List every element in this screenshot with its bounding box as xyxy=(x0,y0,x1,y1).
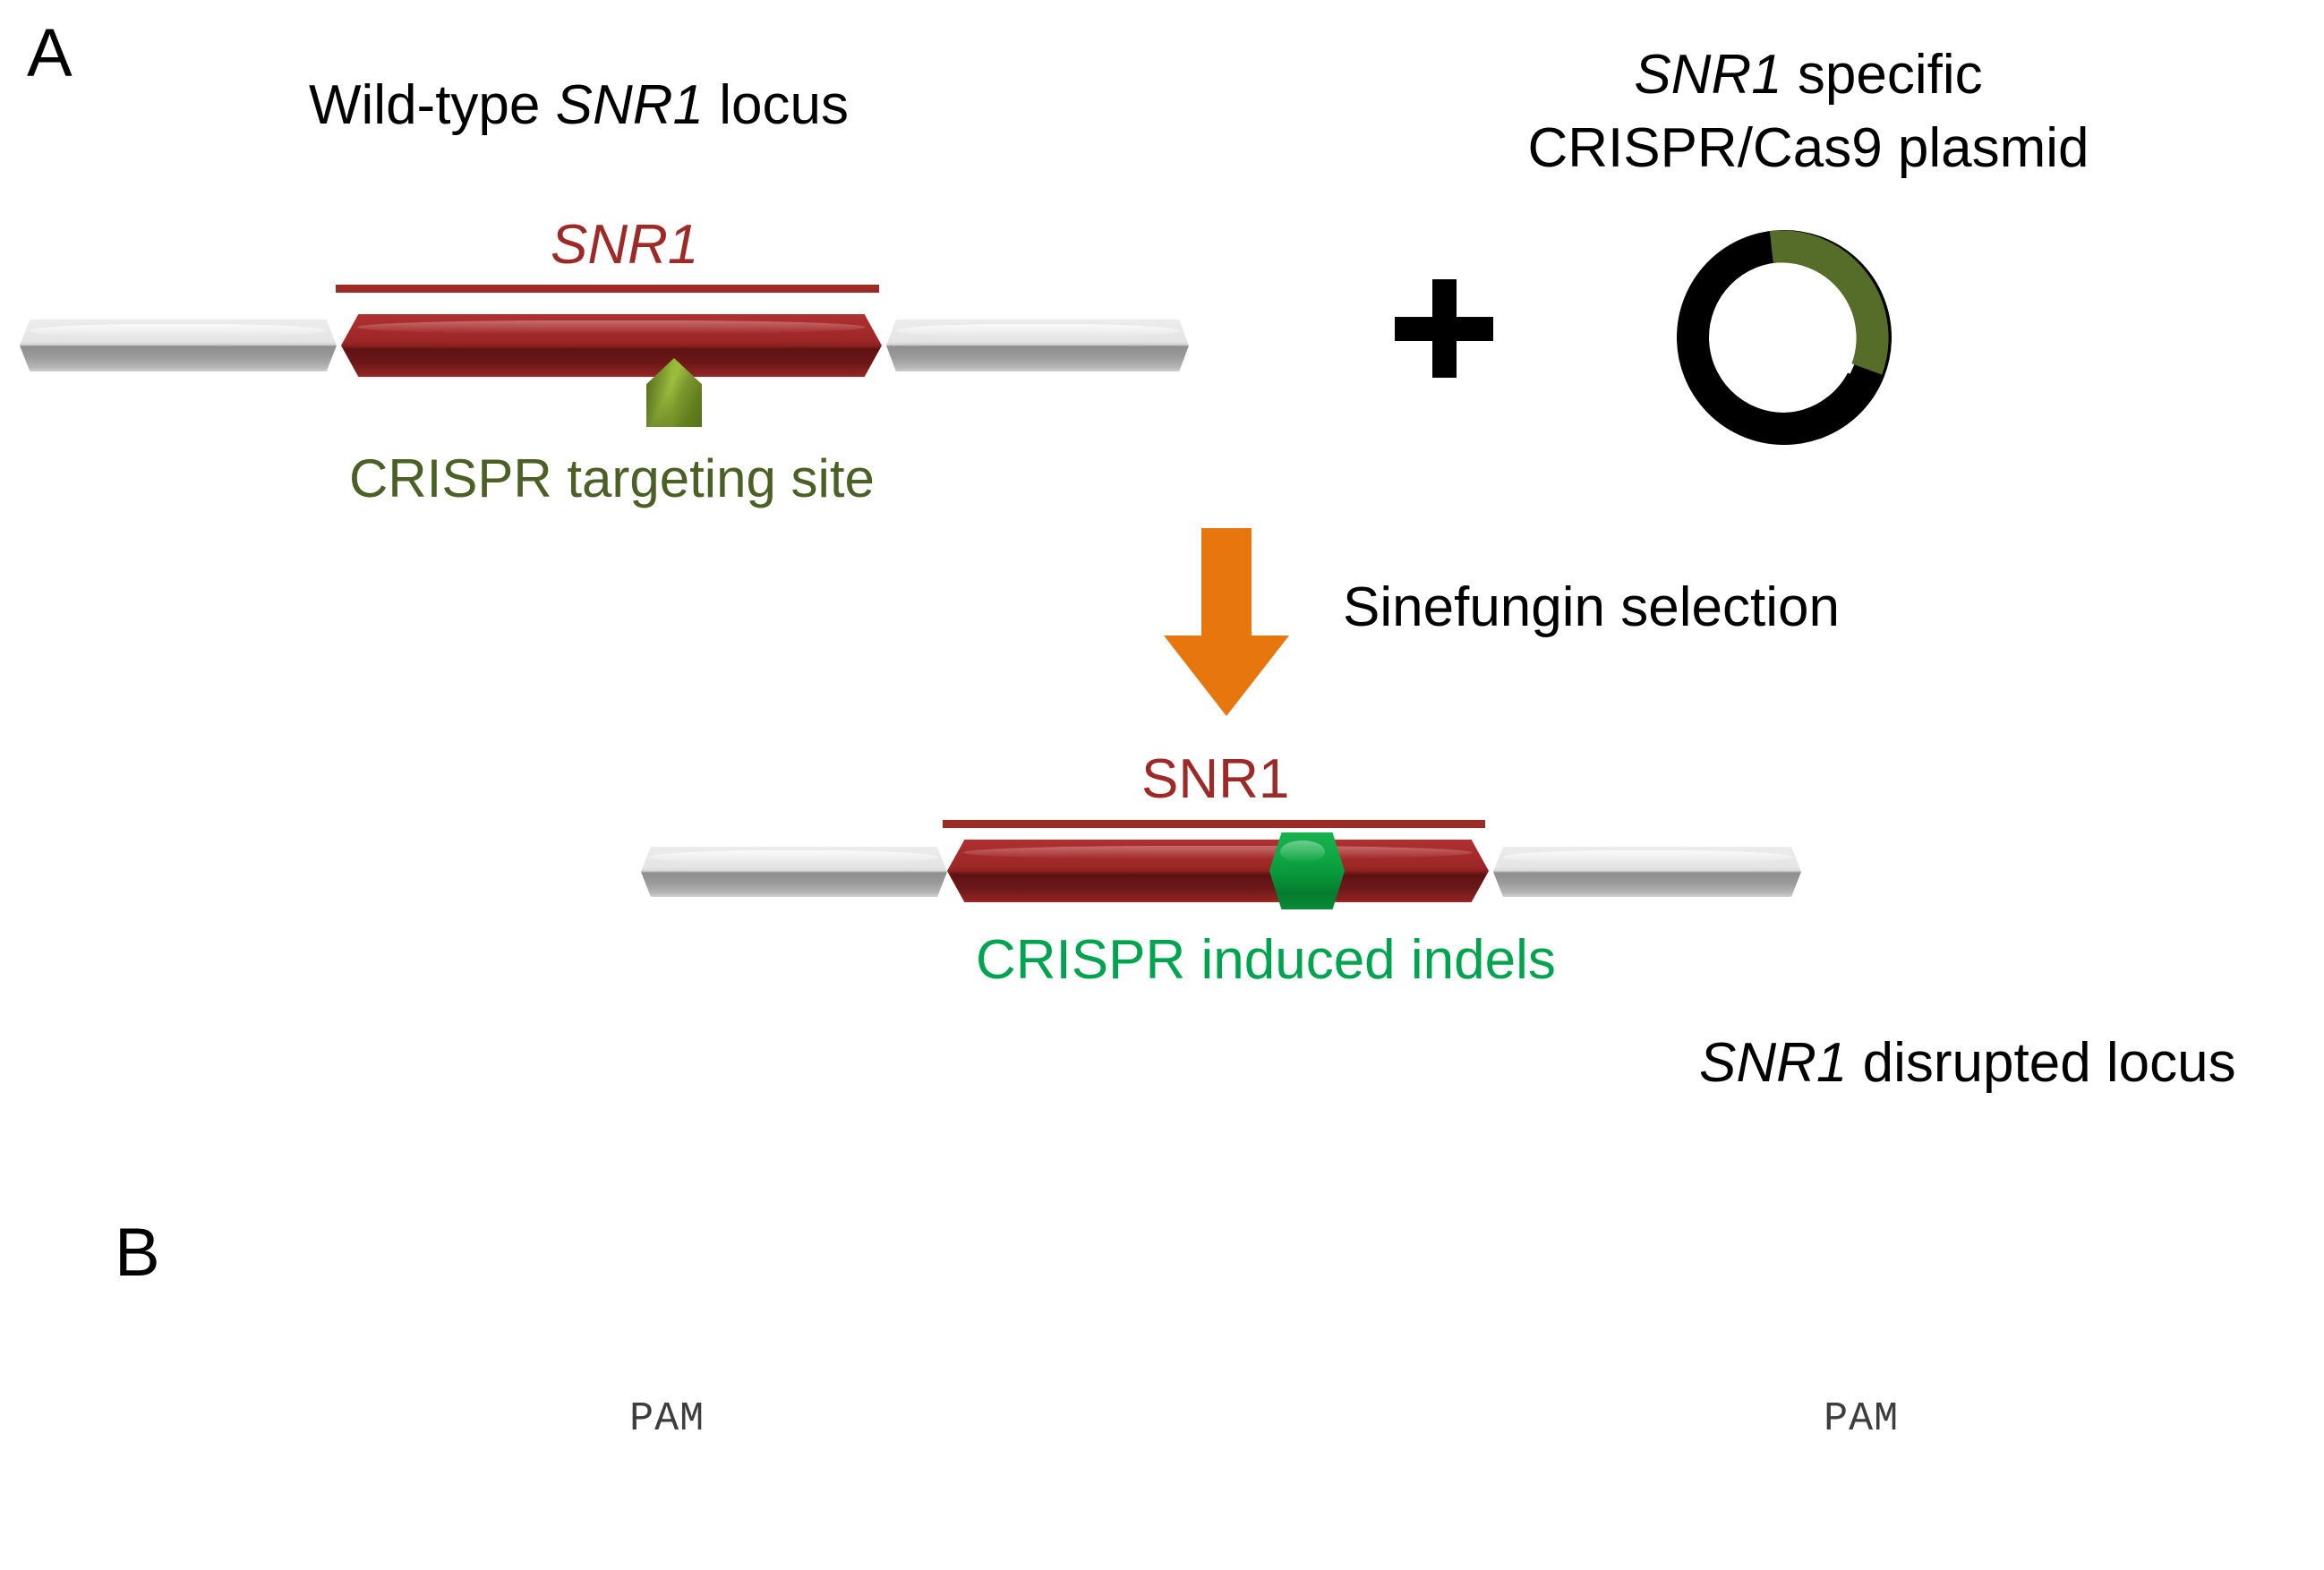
mutant-gene-extent-line xyxy=(943,820,1485,828)
sinefungin-selection-label: Sinefungin selection xyxy=(1343,576,1840,639)
orange-arrow-svg xyxy=(1164,528,1289,716)
plasmid-insert-arc xyxy=(1772,235,1877,380)
wildtype-locus-title: Wild-type SNR1 locus xyxy=(309,73,849,137)
plasmid-title-specific: specific xyxy=(1782,44,1983,106)
plasmid-title-line1: SNR1 specific xyxy=(1468,43,2149,107)
wildtype-gene-name: SNR1 xyxy=(551,213,698,277)
sinefungin-selection-arrow-icon xyxy=(1164,528,1289,716)
wildtype-left-flank-bar xyxy=(20,320,337,371)
mutant-left-flank-bar xyxy=(641,847,947,897)
mutant-right-flank-bar xyxy=(1493,847,1801,897)
panel-b-letter: B xyxy=(115,1219,160,1287)
left-flank-highlight xyxy=(30,324,328,337)
crispr-induced-indels-label: CRISPR induced indels xyxy=(976,928,1556,992)
right-alignment-row-rh: RH 1507 GCAGACGT--TTTTGG 1520 xyxy=(1347,1565,2124,1570)
mutant-snr1-gene-bar xyxy=(947,840,1489,902)
left-sequence-alignment: PAM RH 1722 AGCGAT-GTGTGG 1733 C6-1 AGCG… xyxy=(228,1273,955,1570)
wildtype-title-part1: Wild-type xyxy=(309,74,556,136)
panel-a-letter: A xyxy=(27,20,73,88)
disrupted-locus-gene: SNR1 xyxy=(1699,1032,1847,1094)
crispr-cas9-plasmid-icon xyxy=(1672,226,1896,449)
wildtype-gene-highlight xyxy=(357,320,866,334)
left-alignment-row-rh: RH 1722 AGCGAT-GTGTGG 1733 xyxy=(228,1565,955,1570)
right-sequence-alignment: PAM RH 1507 GCAGACGT--TTTTGG 1520 C5-1 G… xyxy=(1347,1273,2124,1570)
right-pam-label: PAM xyxy=(1347,1390,2124,1448)
plasmid-title-gene: SNR1 xyxy=(1634,44,1781,106)
mutant-left-flank-highlight xyxy=(650,850,937,864)
plasmid-title-line2: CRISPR/Cas9 plasmid xyxy=(1450,116,2166,180)
mutant-gene-highlight xyxy=(963,846,1473,859)
plus-icon xyxy=(1395,279,1493,378)
disrupted-locus-text: disrupted locus xyxy=(1847,1032,2235,1094)
mutant-gene-name: SNR1 xyxy=(1141,747,1289,811)
wildtype-title-gene: SNR1 xyxy=(556,74,704,136)
indel-highlight xyxy=(1280,840,1325,864)
figure-root: A Wild-type SNR1 locus SNR1 CRISPR targe… xyxy=(0,0,2324,1570)
wildtype-snr1-gene-bar xyxy=(341,314,882,377)
wildtype-gene-extent-line xyxy=(336,285,879,293)
wildtype-title-part2: locus xyxy=(704,74,849,136)
mutant-right-flank-highlight xyxy=(1502,850,1791,864)
crispr-indel-marker-icon xyxy=(1269,832,1345,909)
right-flank-highlight xyxy=(895,324,1180,337)
wildtype-right-flank-bar xyxy=(886,320,1189,371)
plasmid-svg xyxy=(1672,226,1896,449)
disrupted-locus-caption: SNR1 disrupted locus xyxy=(1699,1031,2236,1095)
left-pam-label: PAM xyxy=(228,1390,955,1448)
crispr-target-site-label: CRISPR targeting site xyxy=(349,448,875,509)
